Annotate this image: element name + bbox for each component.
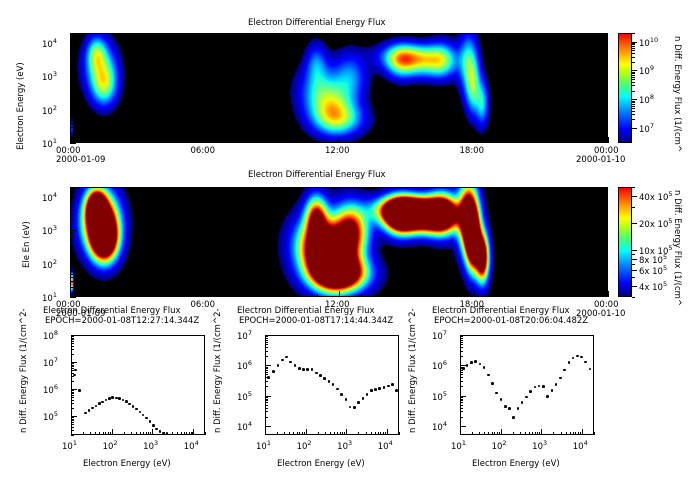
spectrum-y-tick-minor — [460, 397, 463, 398]
spectrum-y-tick-minor — [71, 346, 74, 347]
y-tick-minor — [70, 82, 73, 83]
spectrum-x-tick — [460, 429, 461, 435]
spectrum-y-tick-minor — [71, 420, 74, 421]
spectrum-y-tick-minor — [71, 424, 74, 425]
middle-colorbar-gradient — [619, 188, 631, 296]
x-tick-minor — [227, 140, 228, 143]
colorbar-tick-label: 107 — [639, 122, 654, 135]
spectrum-y-tick-minor — [460, 372, 463, 373]
y-tick-label: 101 — [42, 291, 57, 304]
x-tick-label: 12:00 — [325, 146, 350, 156]
y-tick-minor — [70, 265, 73, 266]
spectrum-data-point — [584, 361, 587, 364]
y-tick-minor — [70, 271, 73, 272]
spectrum-x-tick-minor — [277, 432, 278, 435]
y-tick-minor — [70, 53, 73, 54]
colorbar-tick-label: 109 — [639, 64, 654, 77]
spectrum-data-point — [78, 389, 81, 392]
spectrum-xlabel: Electron Energy (eV) — [277, 459, 365, 469]
spectrum-x-tick-minor — [570, 432, 571, 435]
x-tick-minor — [563, 140, 564, 143]
x-axis-date-left: 2000-01-09 — [56, 155, 105, 165]
spectrum-x-tick-minor — [297, 432, 298, 435]
spectrum-data-point — [529, 390, 532, 393]
spectrum-title: Electron Differential Energy Flux — [237, 306, 375, 316]
spectrum-y-tick-minor — [71, 381, 74, 382]
spectrum-x-tick-minor — [492, 432, 493, 435]
top-colorbar-label: n Diff. Energy Flux (1/(cm^ — [672, 36, 682, 152]
spectrum-data-point — [395, 389, 398, 392]
y-tick-minor — [70, 60, 73, 61]
x-tick-major — [70, 137, 71, 143]
spectrum-y-tick-minor — [460, 338, 463, 339]
colorbar-tick-minor — [632, 50, 635, 51]
y-tick-minor — [70, 267, 73, 268]
y-tick-minor — [70, 46, 73, 47]
x-tick-minor — [227, 294, 228, 297]
spectrum-y-tick-minor — [71, 365, 74, 366]
spectrum-y-tick-minor — [71, 341, 74, 342]
x-tick-minor — [92, 140, 93, 143]
spectrum-y-tick-label: 107 — [43, 356, 58, 369]
x-tick-minor — [429, 294, 430, 297]
spectrum-x-tick-minor — [181, 432, 182, 435]
spectrum-y-tick-minor — [265, 372, 268, 373]
spectrum-y-tick-minor — [460, 381, 463, 382]
spectrum-x-tick-minor — [378, 432, 379, 435]
spectrum-x-tick-minor — [529, 432, 530, 435]
spectrum-ylabel: n Diff. Energy Flux (1/(cm^2- — [408, 308, 418, 433]
spectrum-x-tick-label: 102 — [103, 439, 118, 452]
spectrum-subtitle: EPOCH=2000-01-08T20:06:04.482Z — [434, 316, 588, 326]
spectrum-data-point — [319, 374, 322, 377]
spectrum-ylabel: n Diff. Energy Flux (1/(cm^2- — [213, 308, 223, 433]
y-tick-minor — [70, 100, 73, 101]
spectrum-y-tick-minor — [265, 342, 268, 343]
y-tick-minor — [70, 94, 73, 95]
spectrum-data-point — [508, 407, 511, 410]
spectrum-data-point — [267, 376, 270, 379]
spectrum-y-tick-minor — [71, 338, 74, 339]
spectrum-x-tick-label: 103 — [337, 439, 352, 452]
colorbar-tick-minor — [632, 48, 635, 49]
spectrum-y-tick-minor — [71, 366, 74, 367]
spectrum-y-tick-minor — [460, 408, 463, 409]
y-tick-minor — [70, 248, 73, 249]
spectrum-data-point — [302, 368, 305, 371]
colorbar-tick-minor — [632, 44, 635, 45]
spectrum-x-tick-minor — [573, 432, 574, 435]
spectrum-y-tick-minor — [460, 370, 463, 371]
spectrum-y-tick-minor — [460, 399, 463, 400]
spectrum-x-tick-label: 102 — [297, 439, 312, 452]
spectrum-x-tick-minor — [330, 432, 331, 435]
spectrum-data-point — [285, 356, 288, 359]
spectrum-x-tick-minor — [108, 432, 109, 435]
spectrum-x-tick-minor — [299, 432, 300, 435]
colorbar-tick-label: 108 — [639, 93, 654, 106]
colorbar-tick-minor — [632, 53, 635, 54]
colorbar-tick-minor — [632, 286, 635, 287]
colorbar-tick-label: 40x 105 — [639, 190, 673, 203]
colorbar-tick-minor — [632, 43, 635, 44]
colorbar-tick-minor — [632, 102, 635, 103]
spectrum-y-tick-minor — [265, 347, 268, 348]
spectrum-x-tick-minor — [148, 432, 149, 435]
spectrum-data-point — [362, 397, 365, 400]
spectrum-y-tick-minor — [71, 343, 74, 344]
colorbar-tick-minor — [632, 111, 635, 112]
y-tick-minor — [70, 204, 73, 205]
y-tick-minor — [70, 232, 73, 233]
spectrum-x-tick — [112, 429, 113, 435]
y-tick-minor — [70, 111, 73, 112]
x-tick-minor — [115, 294, 116, 297]
spectrum-data-point — [378, 387, 381, 390]
x-tick-minor — [317, 294, 318, 297]
y-tick-minor — [70, 238, 73, 239]
x-tick-minor — [384, 140, 385, 143]
spectrum-data-point — [289, 361, 292, 364]
top-spectrogram-frame — [70, 33, 608, 143]
colorbar-tick-minor — [632, 106, 635, 107]
x-tick-minor — [496, 140, 497, 143]
colorbar-tick — [632, 128, 637, 129]
y-tick-minor — [70, 113, 73, 114]
colorbar-tick-minor — [632, 73, 635, 74]
y-tick-minor — [70, 236, 73, 237]
spectrum-x-tick-minor — [289, 432, 290, 435]
spectrum-x-tick-minor — [472, 432, 473, 435]
spectrum-x-tick-minor — [143, 432, 144, 435]
spectrum-plot-frame[interactable] — [460, 335, 594, 435]
spectrum-x-tick-minor — [103, 432, 104, 435]
y-tick-minor — [70, 274, 73, 275]
colorbar-tick-minor — [632, 223, 635, 224]
x-tick-minor — [182, 294, 183, 297]
spectrum-y-tick-label: 108 — [43, 329, 58, 342]
spectrum-data-point — [563, 369, 566, 372]
spectrum-x-tick-minor — [205, 432, 206, 435]
x-tick-major — [205, 137, 206, 143]
x-tick-major — [70, 291, 71, 297]
spectrum-x-tick-minor — [499, 432, 500, 435]
spectrum-y-tick-label: 106 — [237, 359, 252, 372]
spectrum-y-tick-minor — [71, 422, 74, 423]
spectrum-data-point — [125, 400, 128, 403]
spectrum-x-tick-minor — [177, 432, 178, 435]
x-tick-minor — [541, 140, 542, 143]
spectrum-y-tick-minor — [71, 400, 74, 401]
spectrum-y-tick-minor — [71, 336, 74, 337]
spectrum-x-tick — [306, 429, 307, 435]
colorbar-tick-minor — [632, 79, 635, 80]
spectrum-xlabel: Electron Energy (eV) — [83, 459, 171, 469]
spectrum-x-tick-minor — [186, 432, 187, 435]
spectrum-data-point — [504, 405, 507, 408]
spectrum-x-tick-minor — [566, 432, 567, 435]
spectrum-xlabel: Electron Energy (eV) — [472, 459, 560, 469]
colorbar-tick-label: 6x 105 — [639, 264, 667, 277]
spectrum-x-tick-minor — [380, 432, 381, 435]
spectrum-y-tick-minor — [460, 402, 463, 403]
spectrum-data-point — [525, 396, 528, 399]
spectrum-x-tick-minor — [532, 432, 533, 435]
spectrum-y-tick-minor — [71, 349, 74, 350]
y-tick-minor — [70, 120, 73, 121]
x-tick-minor — [586, 294, 587, 297]
spectrum-data-point — [294, 364, 297, 367]
spectrum-y-tick-minor — [265, 351, 268, 352]
colorbar-tick-minor — [632, 62, 635, 63]
x-tick-minor — [361, 294, 362, 297]
middle-colorbar-label: n Diff. Energy Flux (1/(cm^ — [672, 190, 682, 306]
spectrum-data-point — [491, 382, 494, 385]
spectrum-data-point — [500, 398, 503, 401]
spectrum-x-tick-label: 103 — [143, 439, 158, 452]
spectrum-y-tick-label: 107 — [237, 329, 252, 342]
x-tick-minor — [92, 294, 93, 297]
x-tick-minor — [518, 294, 519, 297]
spectrum-data-point — [474, 360, 477, 363]
spectrum-x-tick-minor — [99, 432, 100, 435]
y-tick-minor — [70, 66, 73, 67]
spectrum-data-point — [542, 385, 545, 388]
colorbar-tick-minor — [632, 75, 635, 76]
spectrum-x-tick-minor — [399, 432, 400, 435]
x-tick-minor — [406, 294, 407, 297]
spectrum-x-tick-minor — [371, 432, 372, 435]
colorbar-tick-minor — [632, 33, 635, 34]
spectrum-x-tick-minor — [580, 432, 581, 435]
x-tick-minor — [451, 140, 452, 143]
x-tick-minor — [429, 140, 430, 143]
x-tick-major — [339, 291, 340, 297]
spectrum-y-tick-minor — [265, 336, 268, 337]
spectrum-y-tick-label: 104 — [237, 420, 252, 433]
spectrum-data-point — [357, 401, 360, 404]
colorbar-tick-minor — [632, 57, 635, 58]
x-tick-major — [608, 291, 609, 297]
spectrum-title: Electron Differential Energy Flux — [432, 306, 570, 316]
colorbar-tick-minor — [632, 277, 635, 278]
spectrum-data-point — [115, 397, 118, 400]
x-tick-major — [339, 137, 340, 143]
spectrum-y-tick-minor — [460, 386, 463, 387]
spectrum-x-tick — [541, 429, 542, 435]
spectrum-y-tick-minor — [71, 393, 74, 394]
spectrum-y-tick-minor — [265, 367, 268, 368]
top-panel-ylabel: Electron Energy (eV) — [16, 62, 26, 150]
y-tick-minor — [70, 254, 73, 255]
colorbar-tick-label: 4x 105 — [639, 280, 667, 293]
spectrum-data-point — [568, 361, 571, 364]
spectrum-y-tick-minor — [460, 344, 463, 345]
x-tick-minor — [249, 140, 250, 143]
spectrum-x-tick-minor — [525, 432, 526, 435]
y-tick-minor — [70, 117, 73, 118]
spectrum-subtitle: EPOCH=2000-01-08T12:27:14.344Z — [45, 316, 199, 326]
x-tick-minor — [384, 294, 385, 297]
colorbar-tick-minor — [632, 91, 635, 92]
y-tick-minor — [70, 48, 73, 49]
colorbar-tick-minor — [632, 114, 635, 115]
x-tick-label: 18:00 — [460, 146, 485, 156]
spectrum-data-point — [391, 383, 394, 386]
spectrum-y-tick-label: 105 — [432, 390, 447, 403]
y-tick-minor — [70, 210, 73, 211]
spectrum-y-tick — [265, 426, 271, 427]
x-tick-minor — [137, 140, 138, 143]
spectrum-y-tick-minor — [460, 374, 463, 375]
spectrum-x-tick-label: 101 — [62, 439, 77, 452]
spectrum-x-tick-minor — [383, 432, 384, 435]
colorbar-tick-minor — [632, 85, 635, 86]
y-tick-major — [70, 143, 76, 144]
spectrum-y-tick-minor — [265, 399, 268, 400]
spectrum-data-point — [132, 405, 135, 408]
spectrum-title: Electron Differential Energy Flux — [43, 306, 181, 316]
x-tick-minor — [182, 140, 183, 143]
x-tick-minor — [137, 294, 138, 297]
x-tick-minor — [160, 294, 161, 297]
x-tick-minor — [541, 294, 542, 297]
spectrum-ylabel: n Diff. Energy Flux (1/(cm^2- — [19, 308, 29, 433]
spectrum-y-tick-minor — [71, 354, 74, 355]
spectrum-data-point — [306, 368, 309, 371]
top-colorbar[interactable] — [618, 33, 632, 143]
colorbar-tick-minor — [632, 77, 635, 78]
spectrum-x-tick-minor — [561, 432, 562, 435]
x-tick-minor — [586, 140, 587, 143]
spectrum-y-tick-minor — [71, 395, 74, 396]
spectrum-y-tick-minor — [71, 376, 74, 377]
y-tick-minor — [70, 234, 73, 235]
spectrum-subtitle: EPOCH=2000-01-08T17:14:44.344Z — [239, 316, 393, 326]
spectrum-x-tick-minor — [95, 432, 96, 435]
spectrum-x-tick-minor — [537, 432, 538, 435]
colorbar-tick-minor — [632, 108, 635, 109]
spectrum-x-tick-label: 104 — [378, 439, 393, 452]
x-tick-minor — [115, 140, 116, 143]
spectrum-data-point — [551, 389, 554, 392]
spectrum-x-tick-minor — [342, 432, 343, 435]
x-tick-major — [474, 137, 475, 143]
spectrum-x-tick-minor — [293, 432, 294, 435]
spectrum-y-tick-label: 106 — [43, 383, 58, 396]
spectrum-data-point — [281, 359, 284, 362]
colorbar-tick-minor — [632, 250, 635, 251]
middle-colorbar[interactable] — [618, 187, 632, 297]
spectrum-data-point — [328, 380, 331, 383]
spectrum-y-tick-minor — [265, 381, 268, 382]
spectrum-data-point — [162, 432, 165, 435]
spectrum-data-point — [315, 372, 318, 375]
colorbar-tick-minor — [632, 46, 635, 47]
y-tick-minor — [70, 50, 73, 51]
spectrum-x-tick-minor — [494, 432, 495, 435]
x-tick-minor — [451, 294, 452, 297]
y-tick-minor — [70, 33, 73, 34]
x-tick-minor — [361, 140, 362, 143]
spectrum-y-tick-minor — [460, 411, 463, 412]
spectrum-x-tick — [152, 429, 153, 435]
x-tick-minor — [317, 140, 318, 143]
spectrum-y-tick-minor — [71, 419, 74, 420]
spectrum-x-tick-minor — [385, 432, 386, 435]
spectrum-data-point — [559, 377, 562, 380]
y-tick-minor — [70, 269, 73, 270]
spectrum-data-point — [272, 370, 275, 373]
spectrum-y-tick-minor — [460, 377, 463, 378]
x-tick-label: 06:00 — [191, 146, 216, 156]
spectrum-y-tick — [460, 426, 466, 427]
spectrum-y-tick-minor — [71, 435, 74, 436]
spectrum-x-tick-minor — [189, 432, 190, 435]
x-tick-minor — [272, 140, 273, 143]
spectrum-data-point — [340, 393, 343, 396]
spectrum-x-tick-minor — [131, 432, 132, 435]
spectrum-y-tick-minor — [71, 408, 74, 409]
spectrum-data-point — [91, 407, 94, 410]
spectrum-y-tick-minor — [460, 342, 463, 343]
spectrum-x-tick-minor — [90, 432, 91, 435]
spectrum-data-point — [277, 364, 280, 367]
spectrum-data-point — [98, 402, 101, 405]
spectrum-x-tick-minor — [337, 432, 338, 435]
y-tick-minor — [70, 115, 73, 116]
y-tick-minor — [70, 78, 73, 79]
spectrum-y-tick-minor — [265, 402, 268, 403]
spectrum-y-tick-minor — [265, 370, 268, 371]
spectrum-x-tick-label: 104 — [573, 439, 588, 452]
middle-panel-title: Electron Differential Energy Flux — [248, 170, 386, 180]
middle-spectrogram-frame — [70, 187, 608, 297]
spectrum-x-tick — [501, 429, 502, 435]
spectrum-x-tick-minor — [340, 432, 341, 435]
x-tick-minor — [496, 294, 497, 297]
x-tick-minor — [160, 140, 161, 143]
y-tick-minor — [70, 240, 73, 241]
colorbar-tick-minor — [632, 259, 635, 260]
spectrum-x-tick-minor — [484, 432, 485, 435]
spectrum-plot-frame[interactable] — [71, 335, 205, 435]
spectrum-x-tick-label: 102 — [492, 439, 507, 452]
spectrum-data-point — [580, 356, 583, 359]
y-tick-label: 104 — [42, 37, 57, 50]
spectrum-x-tick-minor — [184, 432, 185, 435]
y-tick-minor — [70, 200, 73, 201]
top-colorbar-gradient — [619, 34, 631, 142]
spectrum-x-tick-minor — [535, 432, 536, 435]
spectrum-x-tick-minor — [539, 432, 540, 435]
spectrum-y-tick-minor — [265, 400, 268, 401]
spectrum-y-tick-minor — [265, 344, 268, 345]
spectrum-data-point — [462, 367, 465, 370]
spectrum-data-point — [311, 368, 314, 371]
spectrum-x-tick-minor — [513, 432, 514, 435]
spectrum-data-point — [483, 366, 486, 369]
spectrum-x-tick-minor — [578, 432, 579, 435]
spectrum-x-tick-minor — [124, 432, 125, 435]
x-tick-minor — [294, 140, 295, 143]
spectrum-x-tick-minor — [594, 432, 595, 435]
spectrum-y-tick-minor — [265, 368, 268, 369]
spectrum-y-tick-minor — [460, 356, 463, 357]
spectrum-data-point — [152, 424, 155, 427]
spectrum-y-tick-minor — [265, 356, 268, 357]
y-tick-major — [70, 297, 76, 298]
